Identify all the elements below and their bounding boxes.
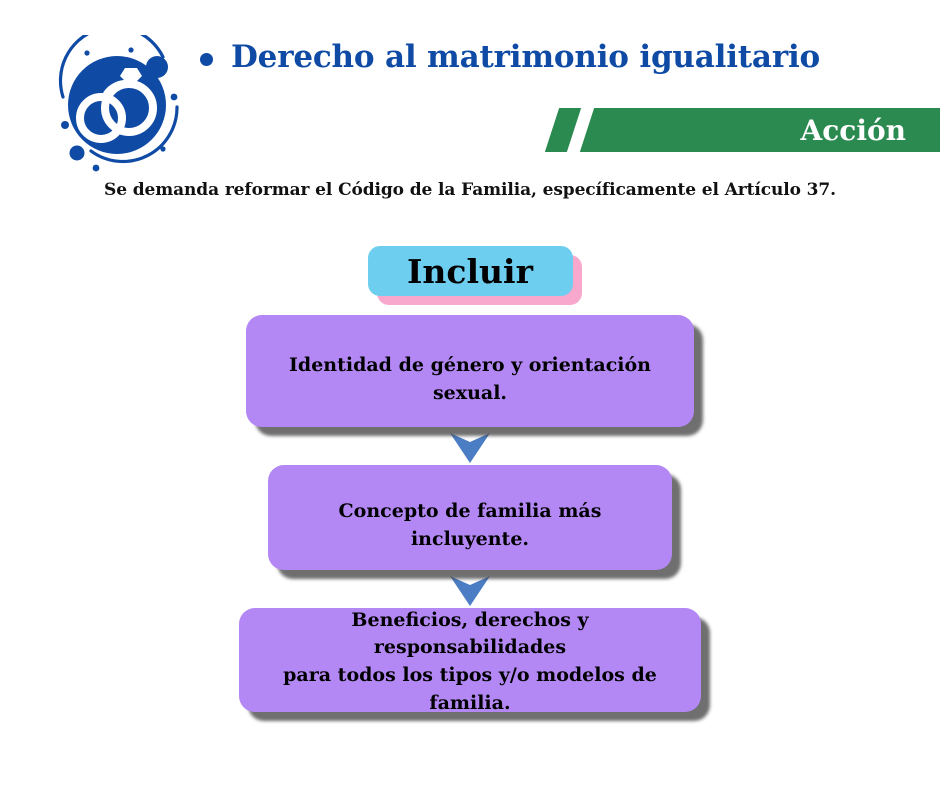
flow-node-2-label: Concepto de familia más incluyente. xyxy=(286,498,654,553)
chevron-down-arrow-icon xyxy=(450,576,490,606)
flow-node-3-label: Beneficios, derechos y responsabilidades… xyxy=(257,607,683,717)
slide-canvas: Derecho al matrimonio igualitario Acción… xyxy=(0,0,940,788)
flow-node-1-label: Identidad de género y orientación sexual… xyxy=(264,352,676,407)
flow-node-3: Beneficios, derechos y responsabilidades… xyxy=(239,608,701,712)
action-banner: Acción xyxy=(552,108,940,152)
flow-node-2: Concepto de familia más incluyente. xyxy=(268,465,672,570)
page-title: Derecho al matrimonio igualitario xyxy=(200,40,820,74)
flow-arrow-2 xyxy=(0,574,940,608)
subtitle-text: Se demanda reformar el Código de la Fami… xyxy=(0,180,940,200)
title-text: Derecho al matrimonio igualitario xyxy=(231,40,820,74)
flow-node-1: Identidad de género y orientación sexual… xyxy=(246,315,694,427)
bullet-dot-icon xyxy=(200,53,213,66)
banner-label: Acción xyxy=(801,114,907,147)
banner-body: Acción xyxy=(622,108,940,152)
flow-arrow-1 xyxy=(0,431,940,465)
node-row-3: Beneficios, derechos y responsabilidades… xyxy=(0,608,940,712)
chevron-down-arrow-icon xyxy=(450,433,490,463)
flow-diagram: Incluir Identidad de género y orientació… xyxy=(0,246,940,712)
node-row-2: Concepto de familia más incluyente. xyxy=(0,465,940,570)
flow-head-row: Incluir xyxy=(0,246,940,296)
spacer-head-to-node1 xyxy=(0,296,940,315)
flow-head-label: Incluir xyxy=(407,255,533,288)
wedding-rings-logo xyxy=(45,35,190,175)
flow-head-incluir: Incluir xyxy=(368,246,573,296)
node-row-1: Identidad de género y orientación sexual… xyxy=(0,315,940,427)
